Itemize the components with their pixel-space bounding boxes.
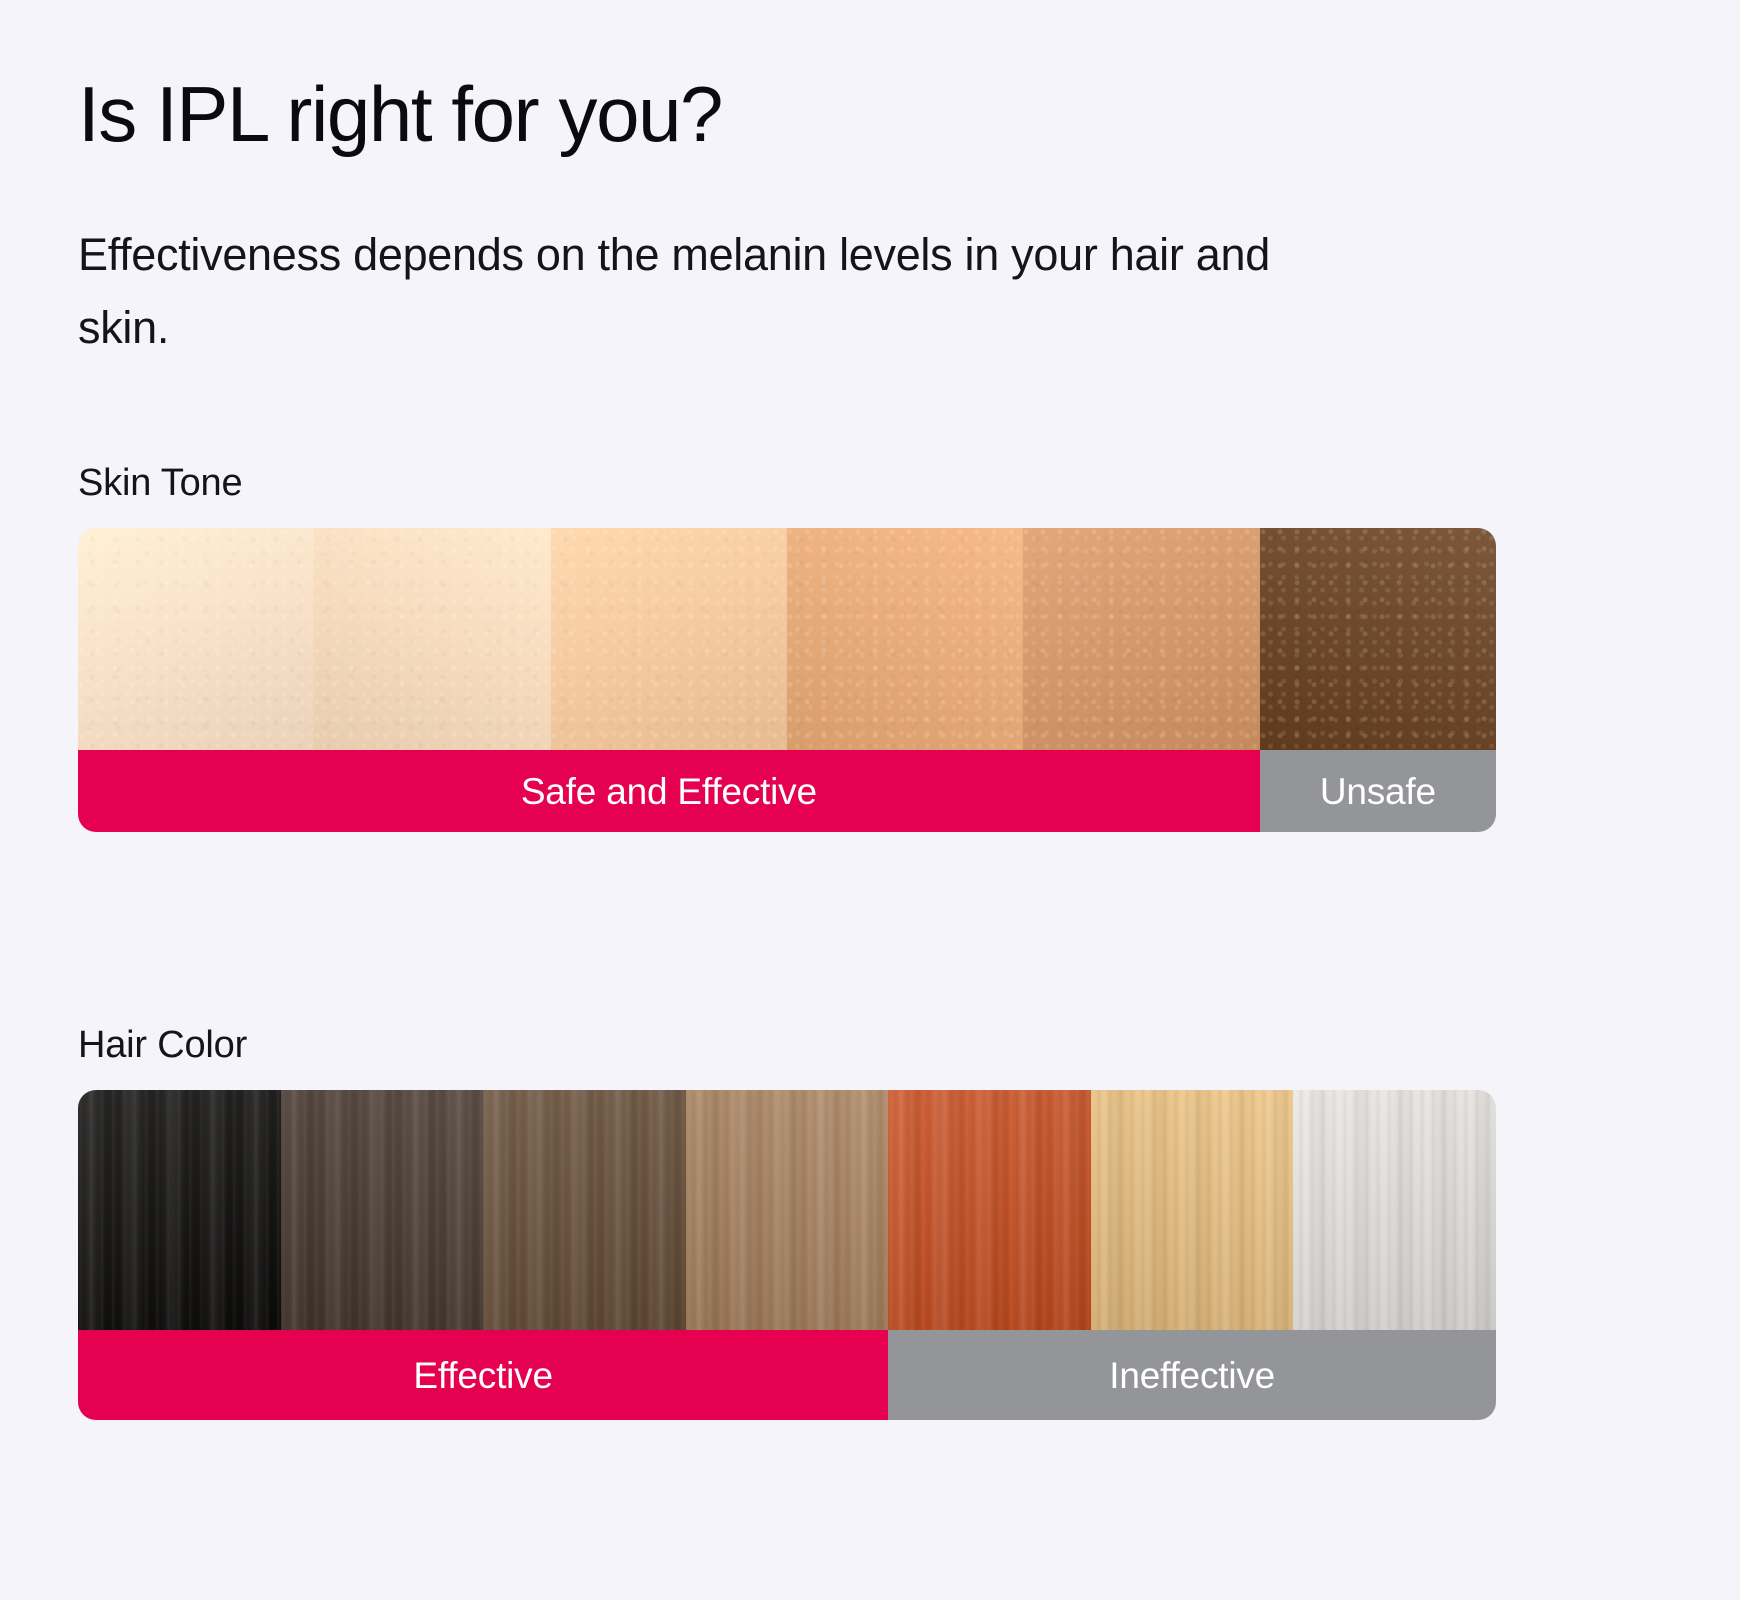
rating-safe-and-effective: Safe and Effective (78, 750, 1260, 832)
skin-tone-2-texture (314, 528, 550, 750)
hair-color-rating-bar: EffectiveIneffective (78, 1330, 1496, 1420)
rating-effective: Effective (78, 1330, 888, 1420)
ipl-suitability-infographic: Is IPL right for you? Effectiveness depe… (0, 0, 1740, 1600)
skin-tone-5-texture (1023, 528, 1259, 750)
hair-color-section-label: Hair Color (78, 1022, 247, 1068)
page-subtitle: Effectiveness depends on the melanin lev… (78, 218, 1358, 364)
skin-tone-4-texture (787, 528, 1023, 750)
skin-tone-scale: Safe and EffectiveUnsafe (78, 528, 1496, 832)
skin-tone-6-swatch (1260, 528, 1496, 750)
skin-tone-rating-bar: Safe and EffectiveUnsafe (78, 750, 1496, 832)
hair-color-1-swatch (78, 1090, 281, 1330)
hair-color-swatch-row (78, 1090, 1496, 1330)
skin-tone-6-texture (1260, 528, 1496, 750)
hair-color-1-texture (78, 1090, 281, 1330)
hair-color-5-texture (888, 1090, 1091, 1330)
hair-color-4-swatch (686, 1090, 889, 1330)
skin-tone-1-swatch (78, 528, 314, 750)
hair-color-5-swatch (888, 1090, 1091, 1330)
skin-tone-2-swatch (314, 528, 550, 750)
skin-tone-1-texture (78, 528, 314, 750)
skin-tone-5-swatch (1023, 528, 1259, 750)
hair-color-scale: EffectiveIneffective (78, 1090, 1496, 1420)
rating-ineffective: Ineffective (888, 1330, 1496, 1420)
hair-color-6-texture (1091, 1090, 1294, 1330)
skin-tone-3-swatch (551, 528, 787, 750)
skin-tone-4-swatch (787, 528, 1023, 750)
hair-color-6-swatch (1091, 1090, 1294, 1330)
hair-color-3-texture (483, 1090, 686, 1330)
hair-color-3-swatch (483, 1090, 686, 1330)
skin-tone-3-texture (551, 528, 787, 750)
skin-tone-swatch-row (78, 528, 1496, 750)
skin-tone-section-label: Skin Tone (78, 460, 242, 506)
rating-unsafe: Unsafe (1260, 750, 1496, 832)
hair-color-4-texture (686, 1090, 889, 1330)
hair-color-7-texture (1293, 1090, 1496, 1330)
hair-color-2-texture (281, 1090, 484, 1330)
page-title: Is IPL right for you? (78, 68, 722, 160)
hair-color-7-swatch (1293, 1090, 1496, 1330)
hair-color-2-swatch (281, 1090, 484, 1330)
